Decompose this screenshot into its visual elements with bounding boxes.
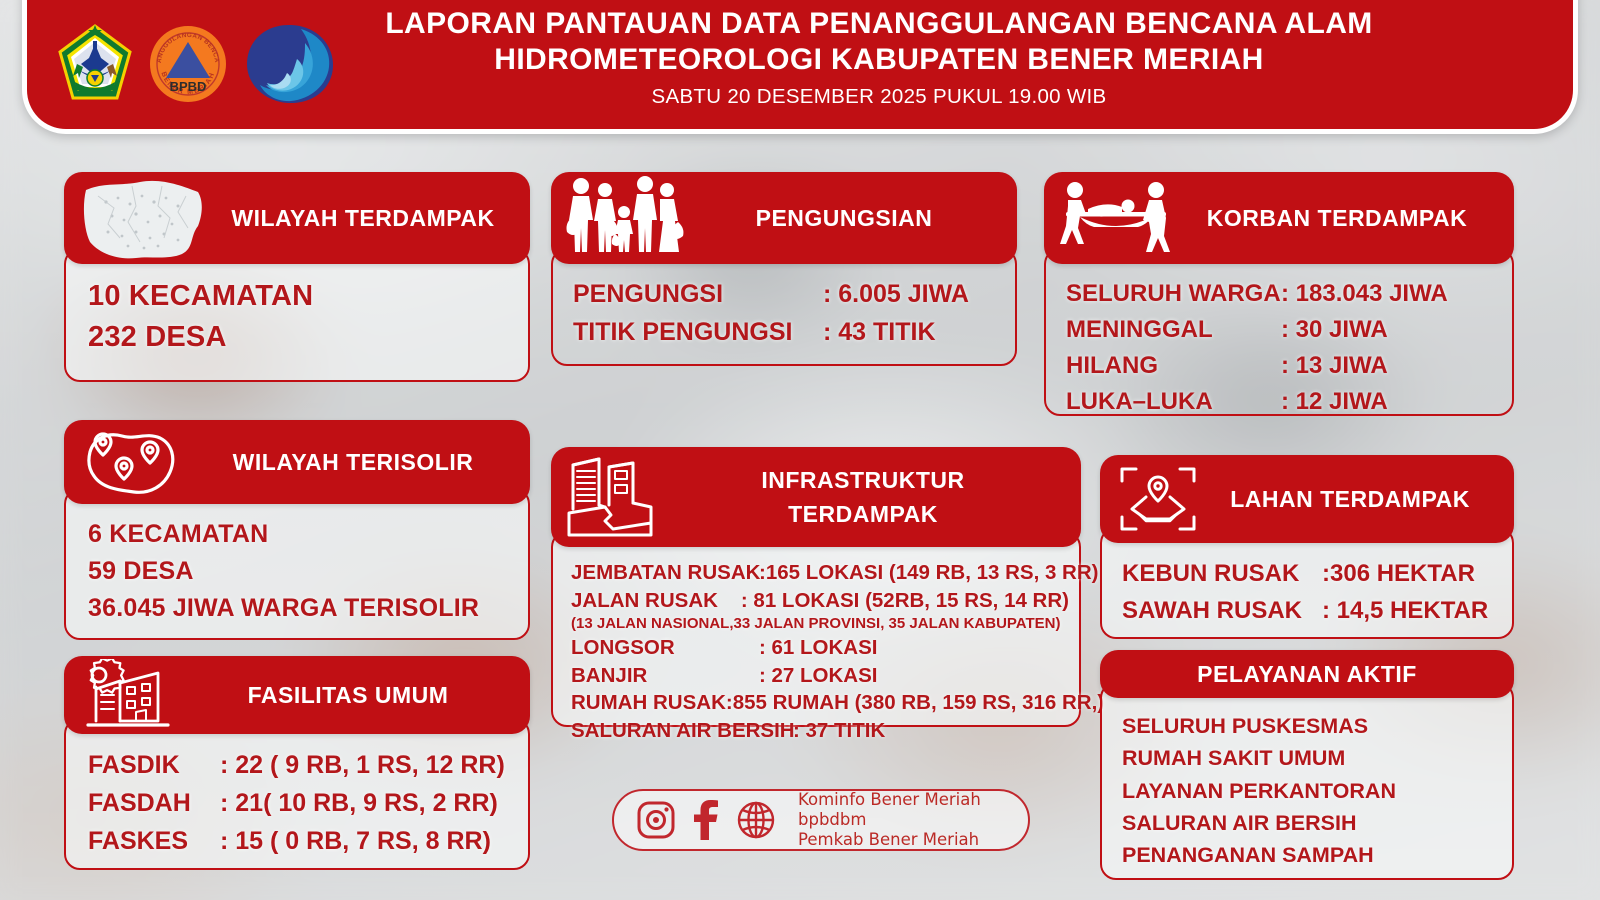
card-title-line-1: INFRASTRUKTUR bbox=[659, 463, 1067, 498]
social-line-3: Pemkab Bener Meriah bbox=[798, 830, 981, 850]
terisolir-line-3: 36.045 JIWA WARGA TERISOLIR bbox=[88, 590, 508, 627]
social-line-1: Kominfo Bener Meriah bbox=[798, 790, 981, 810]
stat-row: LUKA–LUKA : 12 JIWA bbox=[1066, 384, 1496, 420]
card-fasilitas-umum: FASILITAS UMUM FASDIK : 22 ( 9 RB, 1 RS,… bbox=[64, 656, 530, 870]
road-breakdown-note: (13 JALAN NASIONAL,33 JALAN PROVINSI, 35… bbox=[571, 614, 1069, 634]
facebook-icon[interactable] bbox=[692, 800, 720, 840]
stat-value: : 183.043 JIWA bbox=[1281, 276, 1448, 312]
bener-meriah-regency-emblem-logo bbox=[57, 24, 133, 104]
stat-row: SALURAN AIR BERSIH : 37 TITIK bbox=[571, 717, 1069, 745]
terisolir-line-2: 59 DESA bbox=[88, 553, 508, 590]
kominfo-logo bbox=[243, 23, 335, 105]
stat-value: : 30 JIWA bbox=[1281, 312, 1388, 348]
card-title: PENGUNGSIAN bbox=[685, 204, 1017, 233]
report-datetime: SABTU 20 DESEMBER 2025 PUKUL 19.00 WIB bbox=[335, 85, 1423, 109]
land-pin-focus-icon bbox=[1116, 461, 1200, 537]
public-facility-building-icon bbox=[80, 659, 180, 731]
list-item: PENANGANAN SAMPAH bbox=[1122, 839, 1498, 871]
card-korban-terdampak: KORBAN TERDAMPAK SELURUH WARGA : 183.043… bbox=[1044, 172, 1514, 416]
stat-row: KEBUN RUSAK :306 HEKTAR bbox=[1122, 555, 1498, 592]
card-title: WILAYAH TERISOLIR bbox=[190, 448, 530, 477]
card-header: KORBAN TERDAMPAK bbox=[1044, 172, 1514, 264]
globe-icon[interactable] bbox=[736, 800, 776, 840]
stat-value: : 6.005 JIWA bbox=[823, 276, 969, 314]
social-line-2: bpbdbm bbox=[798, 810, 981, 830]
stat-label: RUMAH RUSAK bbox=[571, 689, 726, 717]
wilayah-line-2: 232 DESA bbox=[88, 317, 508, 358]
stat-label: SELURUH WARGA bbox=[1066, 276, 1281, 312]
stat-value: :165 LOKASI (149 RB, 13 RS, 3 RR) bbox=[759, 559, 1099, 587]
card-wilayah-terisolir: WILAYAH TERISOLIR 6 KECAMATAN 59 DESA 36… bbox=[64, 420, 530, 640]
card-body: PENGUNGSI : 6.005 JIWA TITIK PENGUNGSI :… bbox=[551, 248, 1017, 366]
stat-row: JEMBATAN RUSAK :165 LOKASI (149 RB, 13 R… bbox=[571, 559, 1069, 587]
stat-value: : 12 JIWA bbox=[1281, 384, 1388, 420]
stat-row: HILANG : 13 JIWA bbox=[1066, 348, 1496, 384]
card-body: 6 KECAMATAN 59 DESA 36.045 JIWA WARGA TE… bbox=[64, 488, 530, 640]
stat-label: MENINGGAL bbox=[1066, 312, 1281, 348]
stat-value: : 27 LOKASI bbox=[759, 662, 877, 690]
stat-label: LONGSOR bbox=[571, 634, 759, 662]
card-body: SELURUH PUSKESMAS RUMAH SAKIT UMUM LAYAN… bbox=[1100, 682, 1514, 880]
stat-label: SALURAN AIR BERSIH bbox=[571, 717, 793, 745]
social-handles: Kominfo Bener Meriah bpbdbm Pemkab Bener… bbox=[792, 790, 981, 850]
card-body: 10 KECAMATAN 232 DESA bbox=[64, 248, 530, 382]
card-lahan-terdampak: LAHAN TERDAMPAK KEBUN RUSAK :306 HEKTAR … bbox=[1100, 455, 1514, 639]
page-header: BADAN PENANGGULANGAN BENCANA DAERAH BENE… bbox=[22, 0, 1578, 134]
terisolir-line-1: 6 KECAMATAN bbox=[88, 516, 508, 553]
stat-label: FASDAH bbox=[88, 784, 220, 822]
stat-row: BANJIR : 27 LOKASI bbox=[571, 662, 1069, 690]
header-title-block: LAPORAN PANTAUAN DATA PENANGGULANGAN BEN… bbox=[335, 6, 1573, 119]
list-item: LAYANAN PERKANTORAN bbox=[1122, 775, 1498, 807]
card-header: WILAYAH TERISOLIR bbox=[64, 420, 530, 504]
stat-row: SELURUH WARGA : 183.043 JIWA bbox=[1066, 276, 1496, 312]
card-title: INFRASTRUKTUR TERDAMPAK bbox=[659, 463, 1081, 532]
stat-label: PENGUNGSI bbox=[573, 276, 823, 314]
stat-label: FASKES bbox=[88, 822, 220, 860]
refugee-family-icon bbox=[563, 174, 685, 262]
card-title: WILAYAH TERDAMPAK bbox=[210, 204, 530, 233]
page-title-line-1: LAPORAN PANTAUAN DATA PENANGGULANGAN BEN… bbox=[335, 6, 1423, 41]
stat-value: : 81 LOKASI (52RB, 15 RS, 14 RR) bbox=[741, 587, 1069, 615]
stat-row: SAWAH RUSAK : 14,5 HEKTAR bbox=[1122, 592, 1498, 629]
card-title: KORBAN TERDAMPAK bbox=[1174, 204, 1514, 233]
stretcher-casualty-icon bbox=[1058, 179, 1174, 257]
stat-label: JALAN RUSAK bbox=[571, 587, 741, 615]
stat-row: FASDIK : 22 ( 9 RB, 1 RS, 12 RR) bbox=[88, 746, 512, 784]
list-item: SELURUH PUSKESMAS bbox=[1122, 710, 1498, 742]
stat-row: RUMAH RUSAK :855 RUMAH (380 RB, 159 RS, … bbox=[571, 689, 1069, 717]
list-item: SALURAN AIR BERSIH bbox=[1122, 807, 1498, 839]
stat-label: FASDIK bbox=[88, 746, 220, 784]
social-media-footer: Kominfo Bener Meriah bpbdbm Pemkab Bener… bbox=[612, 789, 1030, 851]
stat-value: :855 RUMAH (380 RB, 159 RS, 316 RR,) bbox=[726, 689, 1104, 717]
card-infrastruktur-terdampak: INFRASTRUKTUR TERDAMPAK JEMBATAN RUSAK :… bbox=[551, 447, 1081, 727]
card-body: SELURUH WARGA : 183.043 JIWA MENINGGAL :… bbox=[1044, 248, 1514, 416]
stat-value: : 37 TITIK bbox=[793, 717, 885, 745]
map-region-icon bbox=[78, 172, 210, 264]
stat-value: : 14,5 HEKTAR bbox=[1322, 592, 1488, 629]
stat-value: : 21( 10 RB, 9 RS, 2 RR) bbox=[220, 784, 498, 822]
stat-row: FASDAH : 21( 10 RB, 9 RS, 2 RR) bbox=[88, 784, 512, 822]
card-body: FASDIK : 22 ( 9 RB, 1 RS, 12 RR) FASDAH … bbox=[64, 718, 530, 870]
card-title-line-2: TERDAMPAK bbox=[659, 497, 1067, 532]
stat-value: : 43 TITIK bbox=[823, 314, 936, 352]
bpbd-logo: BADAN PENANGGULANGAN BENCANA DAERAH BENE… bbox=[149, 25, 227, 103]
stat-label: JEMBATAN RUSAK bbox=[571, 559, 759, 587]
wilayah-line-1: 10 KECAMATAN bbox=[88, 276, 508, 317]
logo-group: BADAN PENANGGULANGAN BENCANA DAERAH BENE… bbox=[27, 23, 335, 119]
stat-value: : 22 ( 9 RB, 1 RS, 12 RR) bbox=[220, 746, 505, 784]
page-title-line-2: HIDROMETEOROLOGI KABUPATEN BENER MERIAH bbox=[335, 42, 1423, 77]
list-item: RUMAH SAKIT UMUM bbox=[1122, 742, 1498, 774]
stat-label: SAWAH RUSAK bbox=[1122, 592, 1322, 629]
stat-value: : 61 LOKASI bbox=[759, 634, 877, 662]
collapsed-building-icon bbox=[563, 453, 659, 541]
card-header: LAHAN TERDAMPAK bbox=[1100, 455, 1514, 543]
stat-value: : 15 ( 0 RB, 7 RS, 8 RR) bbox=[220, 822, 491, 860]
stat-row: MENINGGAL : 30 JIWA bbox=[1066, 312, 1496, 348]
stat-label: TITIK PENGUNGSI bbox=[573, 314, 823, 352]
card-header: FASILITAS UMUM bbox=[64, 656, 530, 734]
stat-row: JALAN RUSAK : 81 LOKASI (52RB, 15 RS, 14… bbox=[571, 587, 1069, 615]
instagram-icon[interactable] bbox=[636, 800, 676, 840]
stat-value: :306 HEKTAR bbox=[1322, 555, 1475, 592]
stat-row: FASKES : 15 ( 0 RB, 7 RS, 8 RR) bbox=[88, 822, 512, 860]
stat-label: BANJIR bbox=[571, 662, 759, 690]
card-body: KEBUN RUSAK :306 HEKTAR SAWAH RUSAK : 14… bbox=[1100, 527, 1514, 639]
card-header: PELAYANAN AKTIF bbox=[1100, 650, 1514, 698]
card-title: FASILITAS UMUM bbox=[180, 681, 530, 710]
card-pelayanan-aktif: PELAYANAN AKTIF SELURUH PUSKESMAS RUMAH … bbox=[1100, 650, 1514, 880]
stat-row: TITIK PENGUNGSI : 43 TITIK bbox=[573, 314, 999, 352]
map-pins-icon bbox=[80, 422, 190, 502]
stat-row: PENGUNGSI : 6.005 JIWA bbox=[573, 276, 999, 314]
card-title: LAHAN TERDAMPAK bbox=[1200, 485, 1514, 514]
card-title: PELAYANAN AKTIF bbox=[1100, 660, 1514, 689]
card-header: INFRASTRUKTUR TERDAMPAK bbox=[551, 447, 1081, 547]
svg-text:BPBD: BPBD bbox=[170, 79, 207, 94]
stat-label: HILANG bbox=[1066, 348, 1281, 384]
stat-label: KEBUN RUSAK bbox=[1122, 555, 1322, 592]
card-body: JEMBATAN RUSAK :165 LOKASI (149 RB, 13 R… bbox=[551, 531, 1081, 727]
stat-row: LONGSOR : 61 LOKASI bbox=[571, 634, 1069, 662]
card-header: PENGUNGSIAN bbox=[551, 172, 1017, 264]
stat-value: : 13 JIWA bbox=[1281, 348, 1388, 384]
card-header: WILAYAH TERDAMPAK bbox=[64, 172, 530, 264]
stat-label: LUKA–LUKA bbox=[1066, 384, 1281, 420]
card-wilayah-terdampak: WILAYAH TERDAMPAK 10 KECAMATAN 232 DESA bbox=[64, 172, 530, 382]
card-pengungsian: PENGUNGSIAN PENGUNGSI : 6.005 JIWA TITIK… bbox=[551, 172, 1017, 366]
